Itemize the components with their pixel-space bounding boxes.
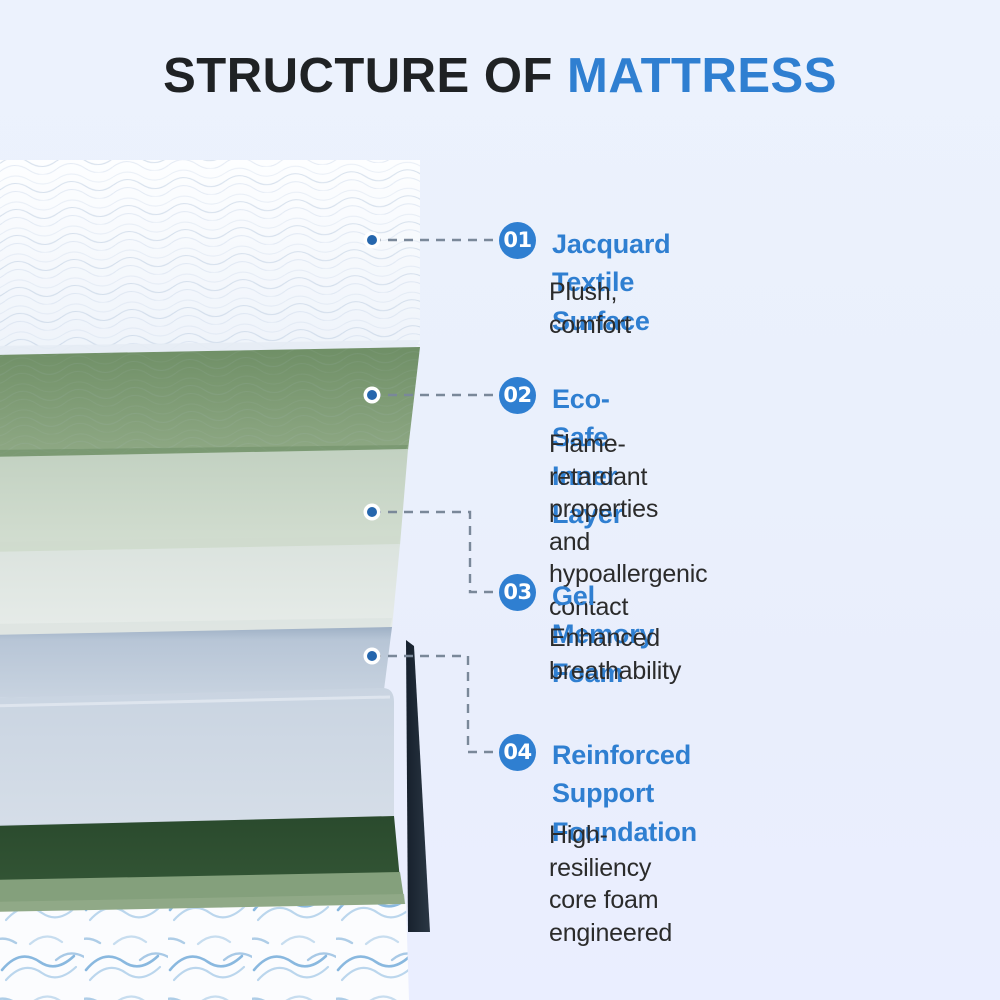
callout-description-04: High-resiliency core foam engineered: [549, 819, 672, 949]
page-title-accent: MATTRESS: [567, 49, 837, 103]
layer-pale-sage: [0, 449, 408, 560]
callout-badge-04: 04: [499, 734, 536, 771]
callout-badge-02: 02: [499, 377, 536, 414]
layer-support-foundation: [0, 816, 406, 920]
callout-description-01: Plush, comfort: [549, 276, 631, 341]
page-title: STRUCTURE OF MATTRESS: [0, 52, 1000, 101]
callout-description-03: Enhanced breathability: [549, 622, 681, 687]
mattress-illustration: [0, 150, 500, 1000]
callout-badge-03: 03: [499, 574, 536, 611]
callout-badge-01: 01: [499, 222, 536, 259]
layer-gel-memory-foam: [0, 627, 394, 843]
layer-base-cover: [0, 904, 412, 1000]
layer-jacquard-surface: [0, 160, 420, 368]
side-profile-wedge: [406, 640, 430, 932]
page-title-primary: STRUCTURE OF: [163, 49, 553, 103]
layer-eco-safe: [0, 347, 420, 468]
